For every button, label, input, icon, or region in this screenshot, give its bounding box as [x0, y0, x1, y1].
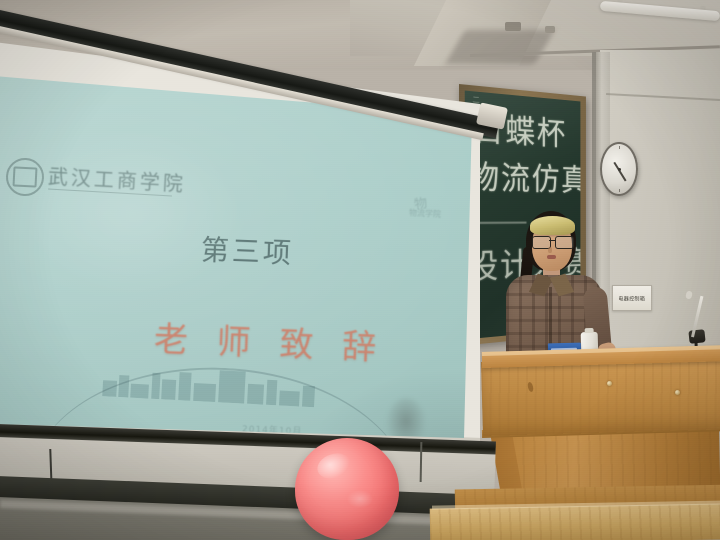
bottle-cap — [585, 328, 594, 333]
podium-screw-right — [675, 390, 680, 395]
pink-balloon — [295, 438, 399, 540]
clock-center-pin — [618, 168, 621, 171]
balloon-highlight — [314, 449, 354, 482]
podium-front-panel — [481, 355, 720, 436]
slide-heading: 第三项 — [200, 228, 294, 272]
clock-minute-hand — [618, 169, 626, 181]
classroom-photo-scene: 电器控制箱 二 百蝶杯 物流仿真 设计大赛 — [0, 0, 720, 540]
university-seal-logo-icon — [5, 157, 45, 197]
balloon-highlight-2 — [347, 490, 373, 508]
projected-slide: 武汉工商学院 第三项 老 师 致 辞 — [0, 68, 480, 486]
wall-clock-icon — [600, 142, 638, 196]
podium-screw-left — [607, 381, 612, 386]
projection-screen: 武汉工商学院 第三项 老 师 致 辞 — [0, 32, 490, 456]
presenter-mouth — [547, 255, 556, 259]
presenter-headband — [530, 216, 575, 235]
blackboard-line-2: 物流仿真 — [469, 150, 581, 199]
glasses-icon — [531, 236, 574, 247]
ceiling-mount-bracket-2 — [545, 26, 555, 33]
slide-subheading: 老 师 致 辞 — [153, 312, 386, 370]
ceiling-mount-bracket — [505, 22, 521, 31]
screen-glare — [24, 128, 244, 298]
slide-watermark: 物流学院 — [409, 207, 442, 220]
slide-university-name: 武汉工商学院 — [47, 160, 186, 197]
presenter-nose — [548, 247, 552, 253]
